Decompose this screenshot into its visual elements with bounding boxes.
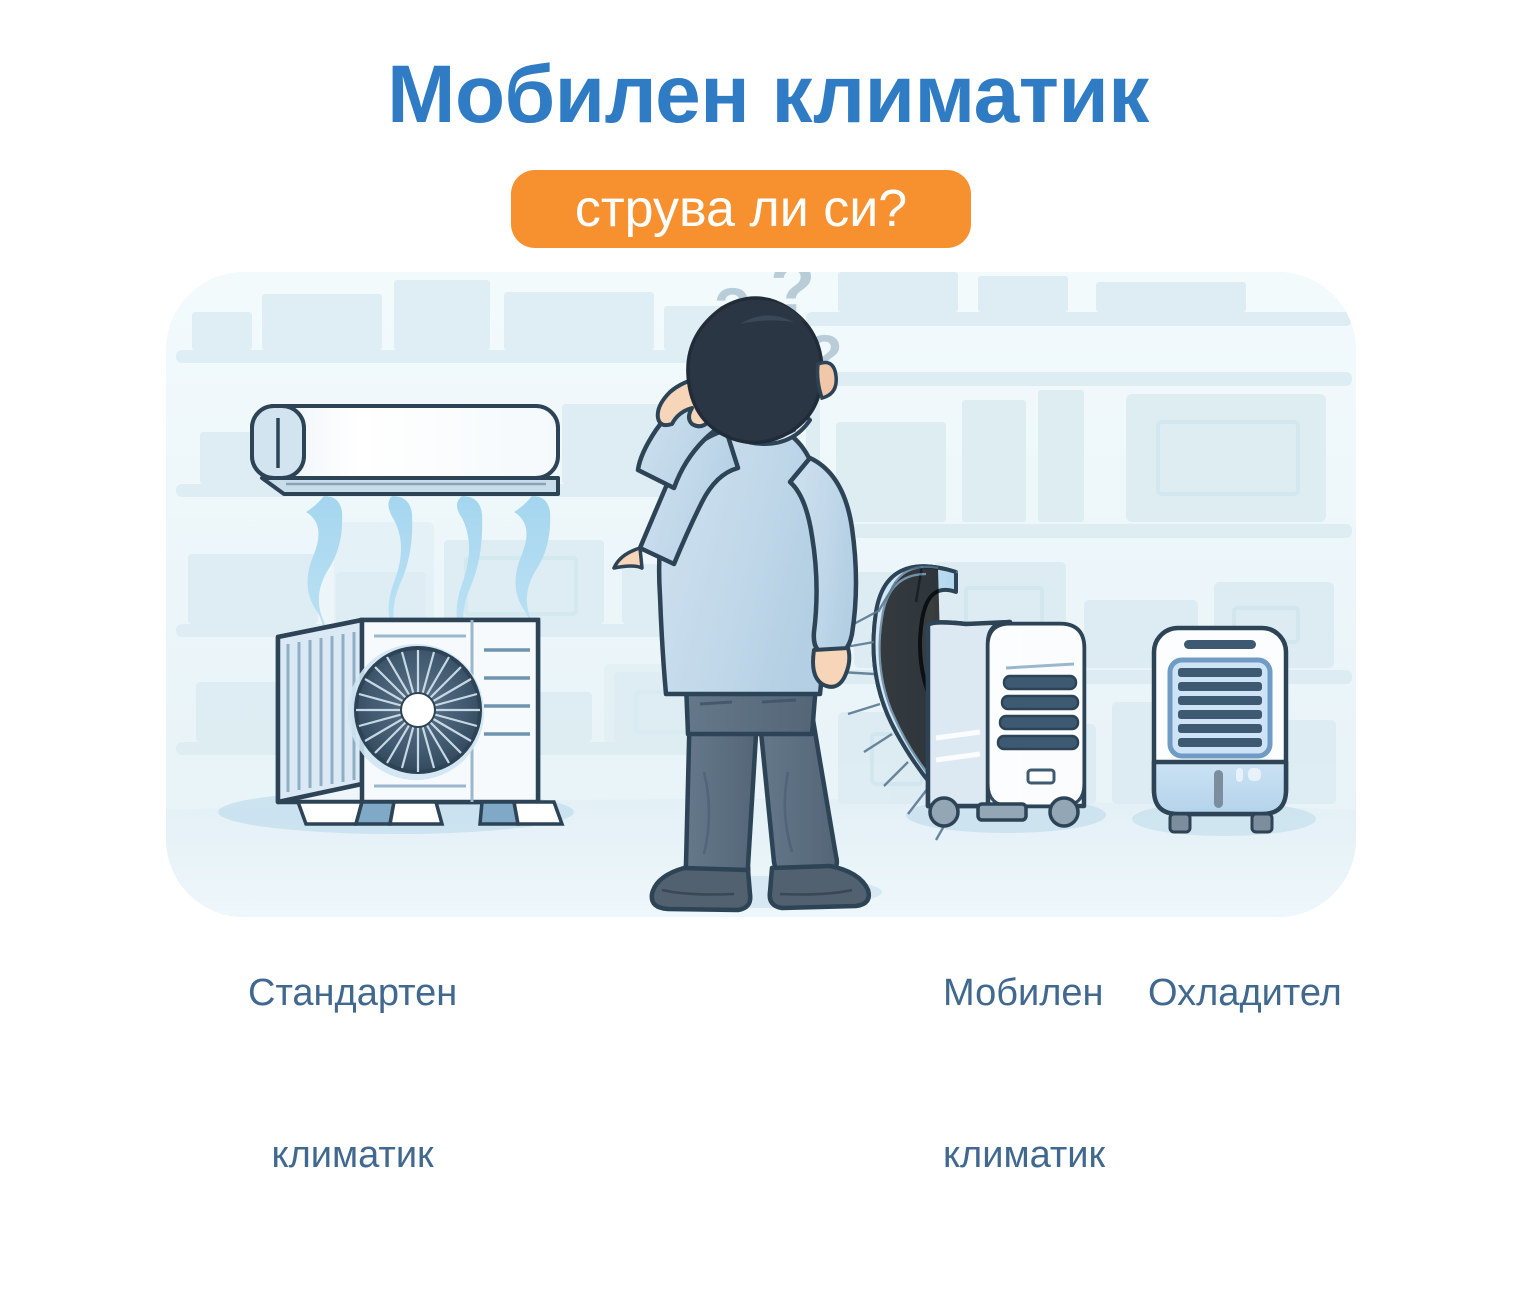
wall-ac-unit [252, 406, 558, 494]
label-standard-ac-line1: Стандартен [248, 967, 457, 1021]
poster-canvas: Мобилен климатик струва ли си? [0, 0, 1536, 1024]
outdoor-condenser-unit [278, 620, 562, 824]
label-standard-ac-line2: климатик [248, 1129, 457, 1183]
illustration-scene: ? ? ? [166, 272, 1356, 917]
scene-artwork: ? ? ? [166, 272, 1356, 917]
page-title: Мобилен климатик [0, 52, 1536, 138]
label-portable-ac-line2: климатик [943, 1129, 1105, 1183]
label-standard-ac: Стандартен климатик [248, 859, 457, 1291]
label-air-cooler: Охладител [1148, 859, 1342, 1129]
status-badge-label: струва ли си? [575, 183, 907, 235]
label-portable-ac: Мобилен климатик [943, 859, 1105, 1291]
label-portable-ac-line1: Мобилен [943, 967, 1105, 1021]
status-badge: струва ли си? [511, 170, 971, 248]
label-air-cooler-line1: Охладител [1148, 967, 1342, 1021]
